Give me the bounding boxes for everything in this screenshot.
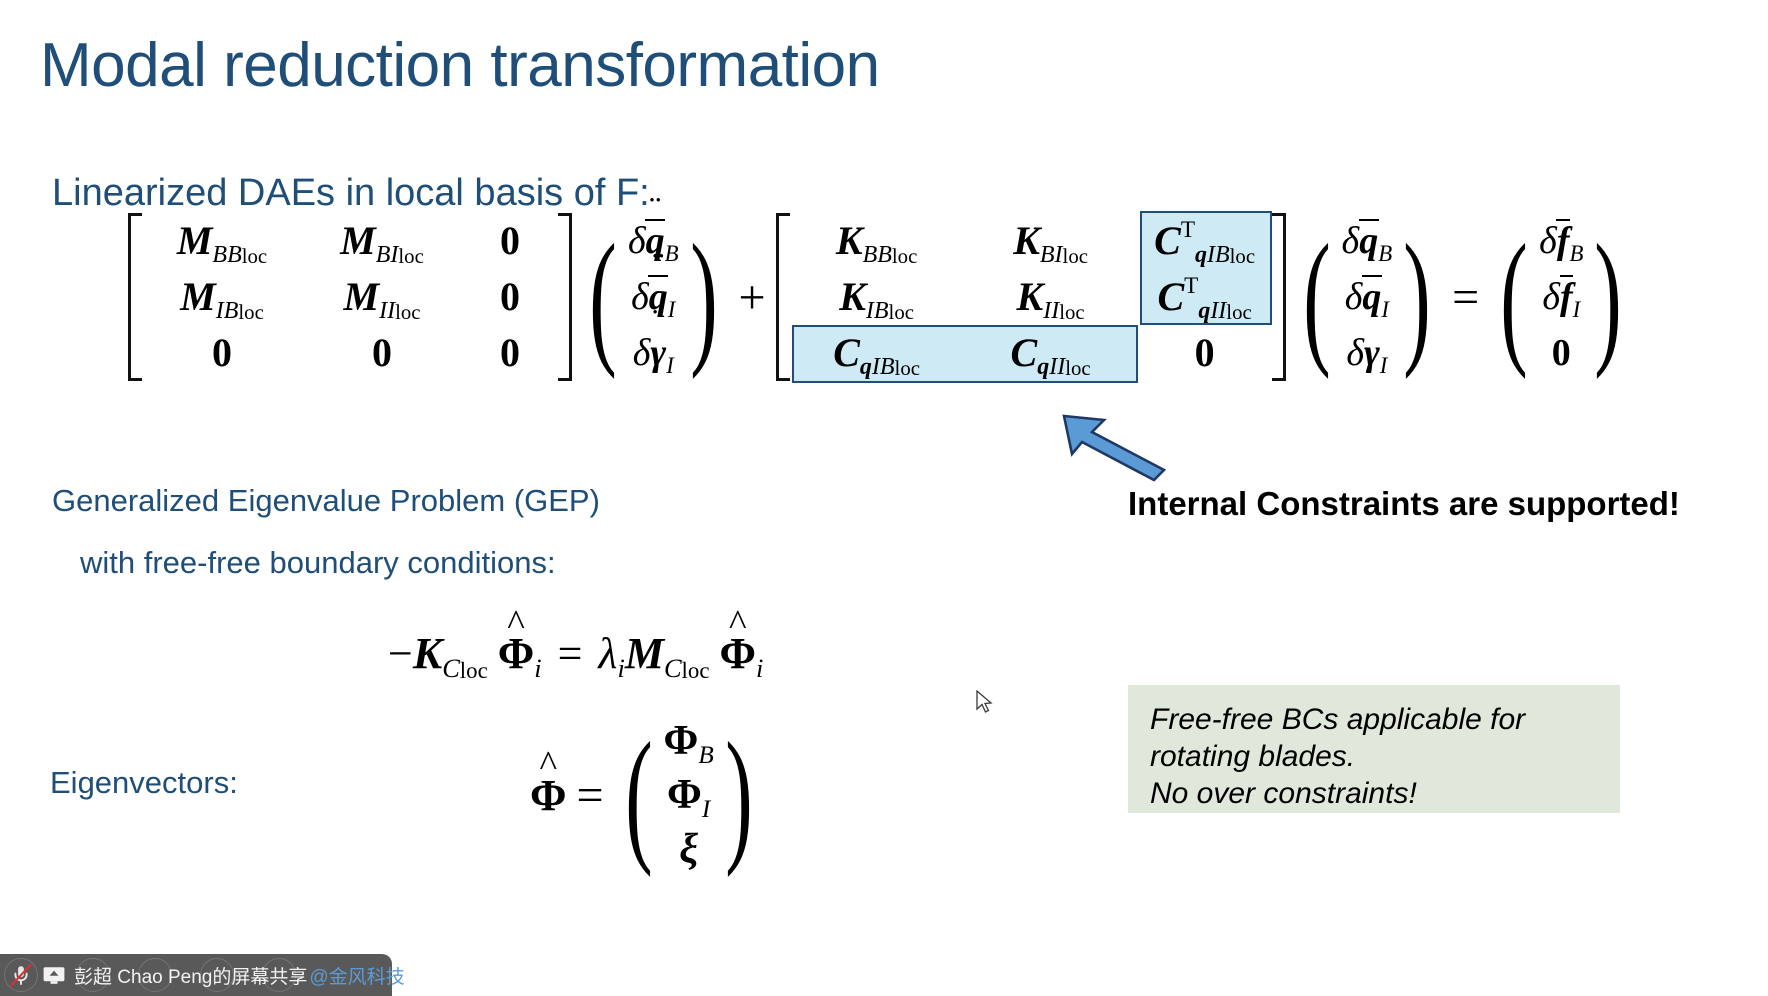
mode-index-rhs: i [756, 653, 763, 683]
control-ring-3 [138, 958, 172, 992]
minus-sign: − [388, 629, 413, 678]
matrix-cell-c-qib-transpose: CTqIBloc [1154, 221, 1255, 261]
boundary-conditions-label: with free-free boundary conditions: [80, 545, 556, 581]
mode-index: i [534, 653, 541, 683]
internal-constraints-note: Internal Constraints are supported! [1128, 485, 1680, 523]
paren-left: ( [1303, 237, 1330, 357]
matrix-cell-zero-r2c0: 0 [212, 333, 232, 373]
control-ring-1 [4, 958, 38, 992]
screen-share-icon[interactable] [41, 962, 67, 988]
stiffness-symbol: K [413, 629, 442, 678]
mode-shape-symbol-rhs: Φ [720, 628, 756, 679]
mass-subscript-loc: loc [682, 658, 710, 683]
equals-operator: = [558, 629, 583, 678]
mass-matrix: MBBloc MBIloc 0 MIBloc MIIloc 0 0 0 0 [128, 213, 572, 381]
matrix-cell-zero-r0c2: 0 [500, 221, 520, 261]
gep-label: Generalized Eigenvalue Problem (GEP) [52, 483, 600, 519]
vector-cell-df-b: δfB [1539, 222, 1583, 260]
presentation-slide: Modal reduction transformation Linearize… [0, 0, 1768, 996]
bracket-left [776, 213, 790, 381]
screen-share-taskbar[interactable]: 彭超 Chao Peng的屏幕共享 @金风科技 [0, 954, 392, 996]
vector-cell-phi-i: ΦI [667, 774, 710, 816]
stiffness-subscript: C [442, 653, 460, 683]
share-company-text: @金风科技 [309, 962, 404, 989]
control-ring-5 [262, 958, 296, 992]
callout-line-3: No over constraints! [1150, 775, 1598, 812]
vector-cell-dgamma-i: δγI [1346, 334, 1387, 372]
paren-left: ( [589, 237, 616, 357]
eigenvalue-index: i [617, 653, 624, 683]
matrix-cell-k-ii: KIIloc [1017, 277, 1085, 317]
slide-subtitle: Linearized DAEs in local basis of F: [52, 172, 650, 215]
force-vector: ( δfB δfI 0 ) [1489, 213, 1633, 381]
matrix-cell-zero-r2c1: 0 [372, 333, 392, 373]
linearized-dae-equation: MBBloc MBIloc 0 MIBloc MIIloc 0 0 0 0 ( … [128, 212, 1633, 382]
mass-symbol: M [625, 629, 664, 678]
eigenvector-partition-equation: Φ = ( ΦB ΦI ξ ) [530, 715, 764, 875]
matrix-cell-c-qii: CqIIloc [1011, 333, 1091, 373]
vector-cell-df-i: δfI [1542, 278, 1580, 316]
equals-operator: = [1452, 270, 1479, 325]
paren-left: ( [625, 735, 652, 855]
bracket-right [1272, 213, 1286, 381]
equals-operator: = [576, 768, 603, 823]
acceleration-vector: ( δqB δqI δγI ) [578, 213, 729, 381]
vector-cell-phi-b: ΦB [664, 720, 714, 762]
mass-subscript: C [664, 653, 682, 683]
page-title: Modal reduction transformation [40, 30, 880, 101]
free-free-bc-callout: Free-free BCs applicable for rotating bl… [1128, 685, 1620, 813]
stiffness-subscript-loc: loc [460, 658, 488, 683]
matrix-cell-c-qib: CqIBloc [833, 333, 920, 373]
bracket-left [128, 213, 142, 381]
control-ring-4 [200, 958, 234, 992]
matrix-cell-k-ib: KIBloc [839, 277, 914, 317]
vector-cell-ddgamma-i: δγI [633, 334, 674, 372]
thick-arrow-up-left-icon [1060, 410, 1168, 482]
matrix-cell-m-bb: MBBloc [177, 221, 267, 261]
vector-cell-zero: 0 [1552, 334, 1571, 372]
matrix-cell-c-qii-transpose: CTqIIloc [1157, 277, 1251, 317]
mode-shape-symbol-lhs: Φ [530, 770, 566, 821]
paren-right: ) [690, 237, 717, 357]
paren-right: ) [1595, 237, 1622, 357]
callout-line-2: rotating blades. [1150, 738, 1598, 775]
matrix-cell-m-ii: MIIloc [344, 277, 421, 317]
mouse-pointer-icon [976, 690, 994, 716]
paren-right: ) [725, 735, 752, 855]
generalized-eigenvalue-equation: −KClocΦi=λiMClocΦi [388, 628, 763, 679]
paren-right: ) [1403, 237, 1430, 357]
paren-left: ( [1500, 237, 1527, 357]
stiffness-constraint-matrix: KBBloc KBIloc CTqIBloc KIBloc KIIloc CTq… [776, 213, 1286, 381]
eigenvalue-symbol: λ [598, 629, 617, 678]
matrix-cell-zero-r2c2: 0 [500, 333, 520, 373]
bracket-right [558, 213, 572, 381]
vector-cell-dq-i: δqI [1345, 278, 1389, 316]
control-ring-2 [76, 958, 110, 992]
mode-shape-symbol: Φ [498, 628, 534, 679]
matrix-cell-zero-r2c2: 0 [1195, 333, 1215, 373]
matrix-cell-m-bi: MBIloc [340, 221, 424, 261]
eigenvectors-label: Eigenvectors: [50, 765, 238, 801]
plus-operator: + [739, 270, 766, 325]
matrix-cell-zero-r1c2: 0 [500, 277, 520, 317]
displacement-vector: ( δqB δqI δγI ) [1292, 213, 1443, 381]
matrix-cell-k-bb: KBBloc [836, 221, 917, 261]
eigenvector-column: ( ΦB ΦI ξ ) [614, 714, 764, 876]
matrix-cell-m-ib: MIBloc [180, 277, 264, 317]
vector-cell-dq-b: δqB [1342, 222, 1393, 260]
matrix-cell-k-bi: KBIloc [1013, 221, 1088, 261]
vector-cell-xi: ξ [679, 828, 698, 870]
callout-line-1: Free-free BCs applicable for [1150, 701, 1598, 738]
